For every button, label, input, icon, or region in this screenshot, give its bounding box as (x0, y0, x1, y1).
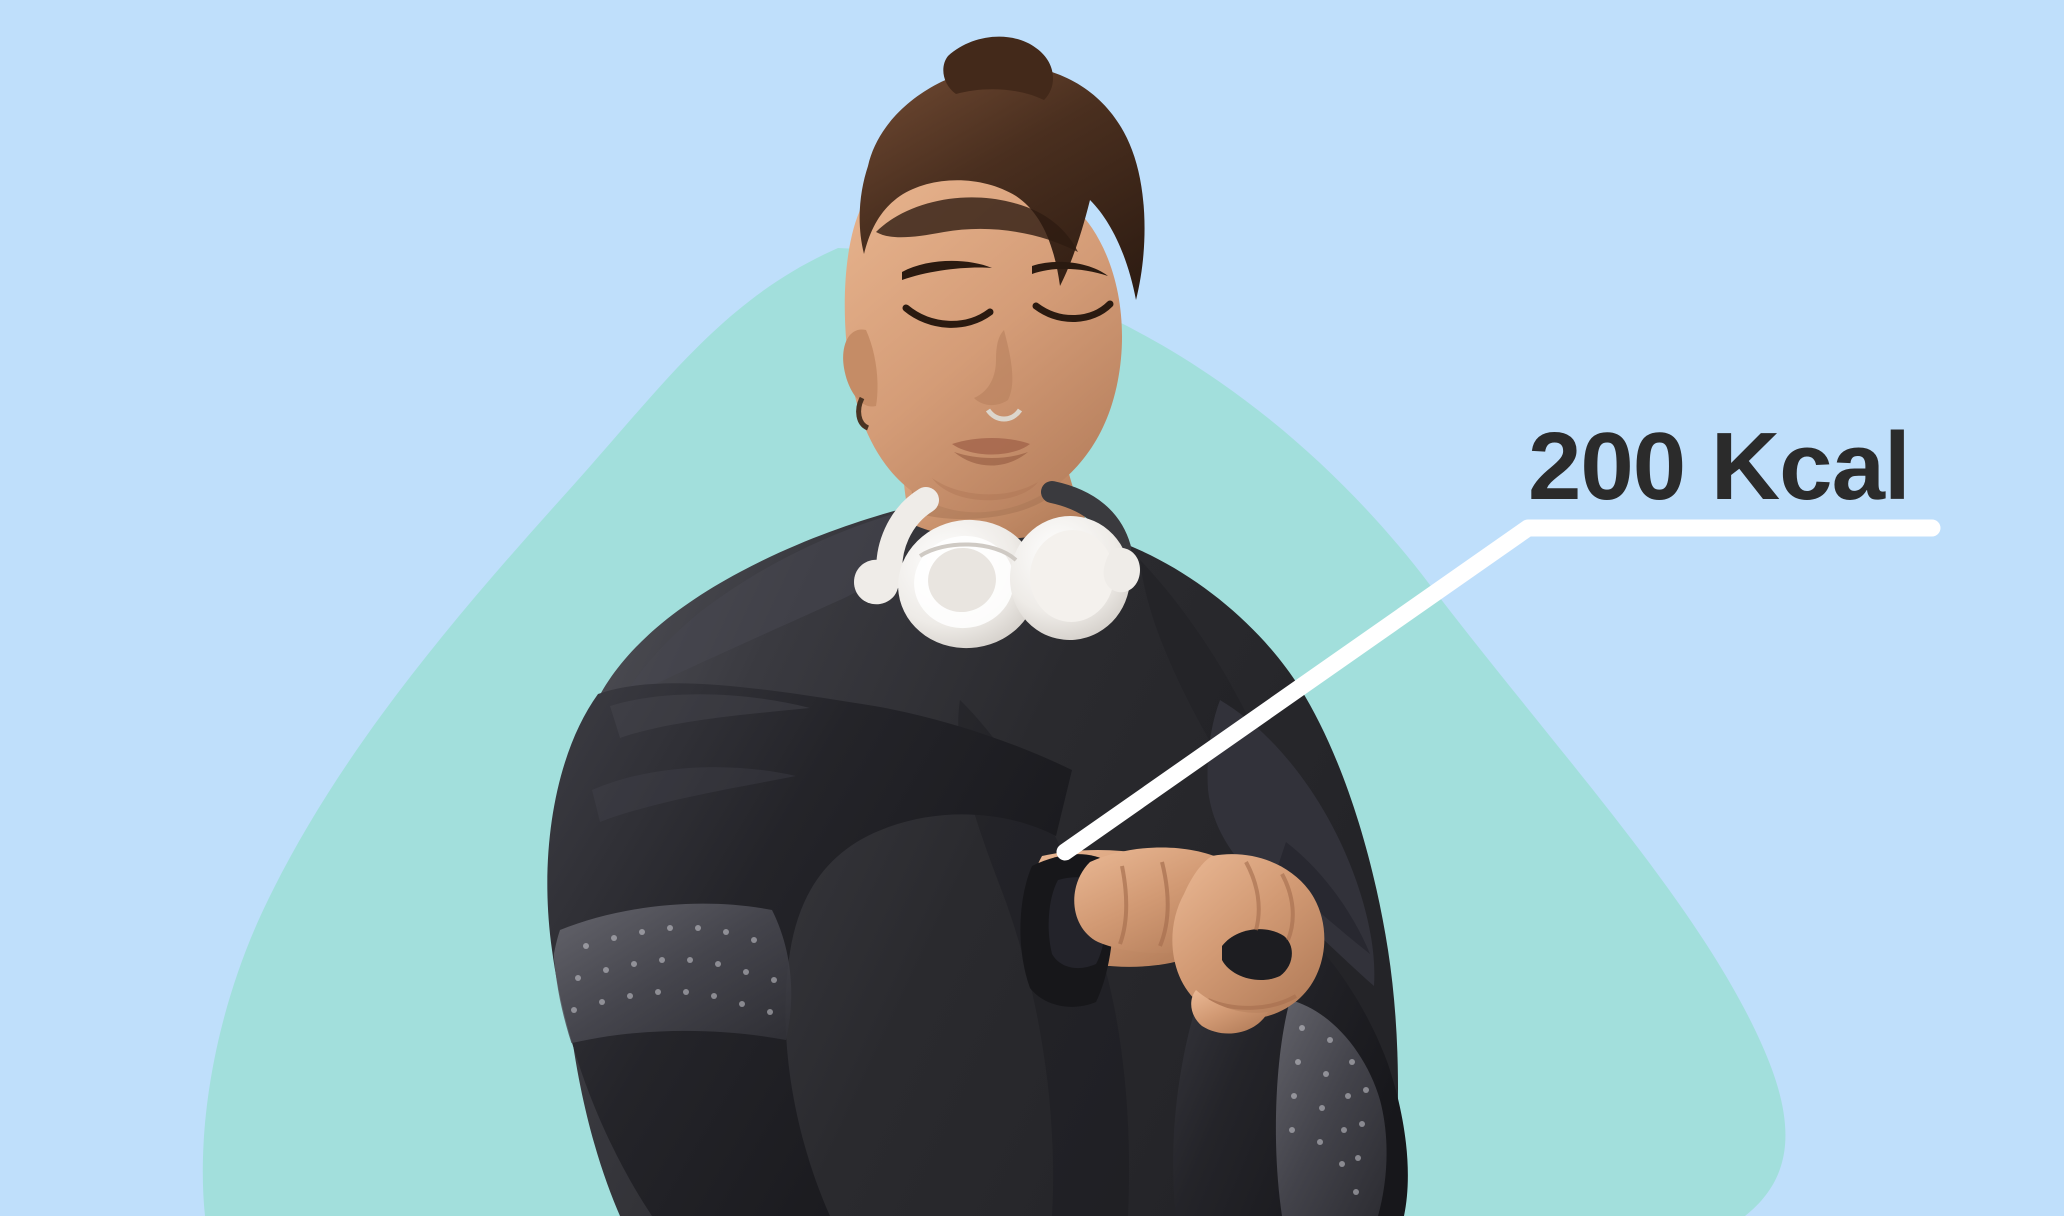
poster-canvas: 200 Kcal (0, 0, 2064, 1216)
callout-annotation: 200 Kcal (0, 0, 2064, 1216)
callout-value-label: 200 Kcal (1528, 419, 1910, 515)
callout-leader-line (1065, 528, 1932, 852)
